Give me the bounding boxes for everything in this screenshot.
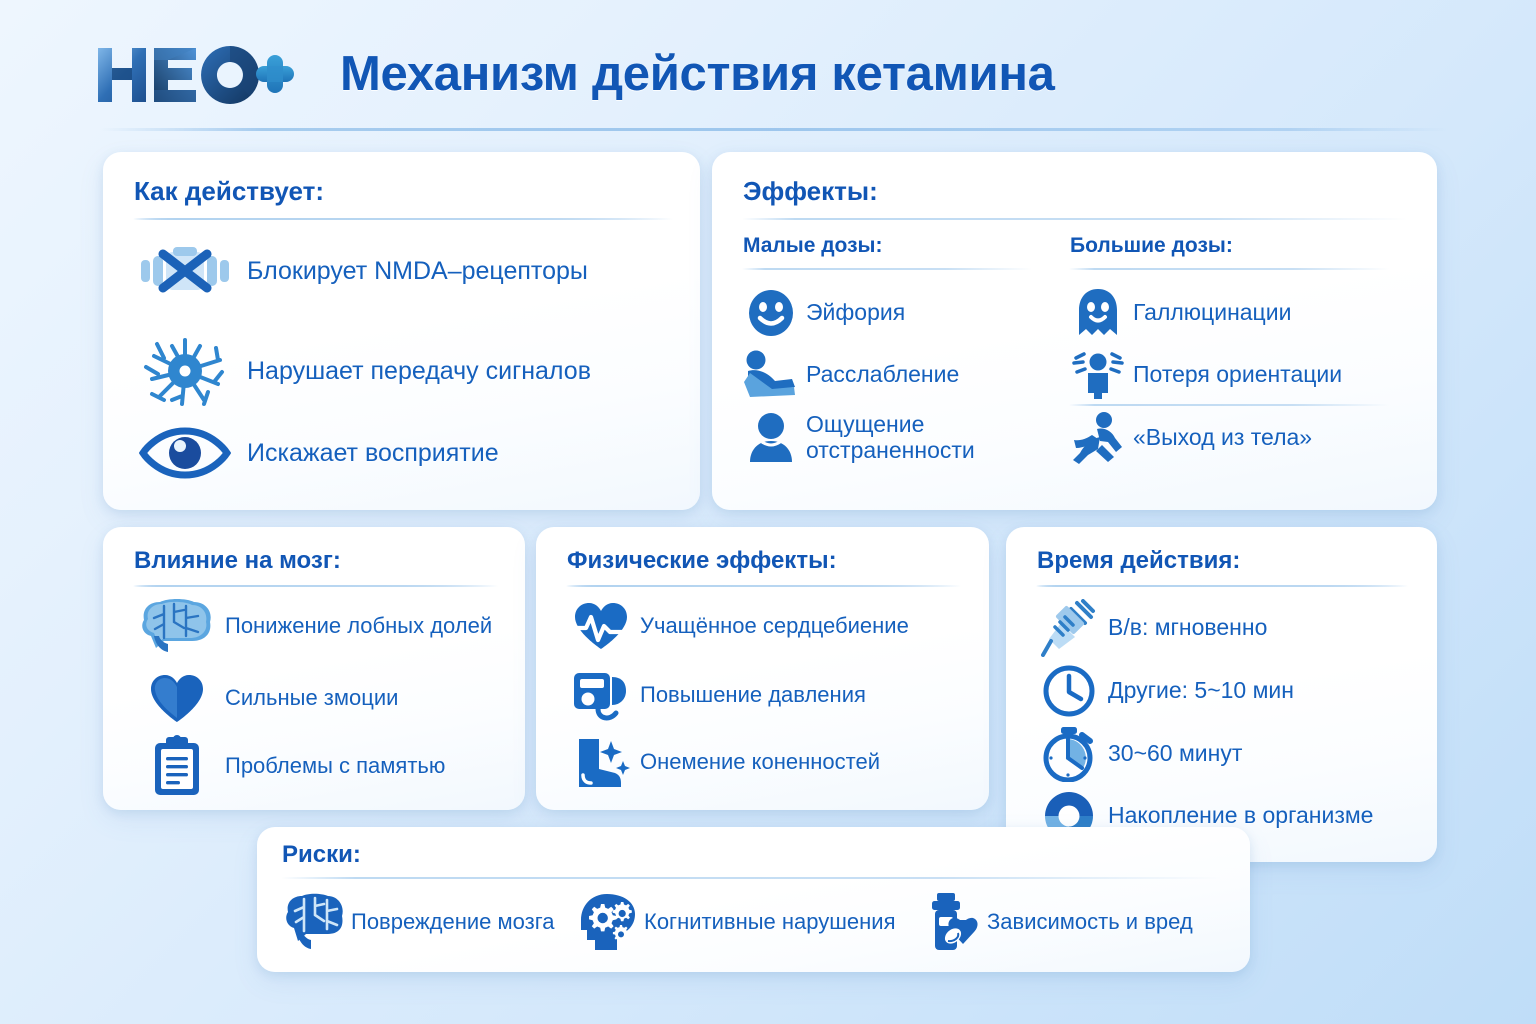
list-item-label: Повреждение мозга: [351, 910, 555, 935]
ghost-icon: [1067, 287, 1129, 339]
list-item: Повышение давления: [564, 664, 969, 726]
page-title: Механизм действия кетамина: [340, 46, 1055, 102]
item-divider: [566, 585, 961, 587]
list-item: Зависимость и вред: [917, 887, 1193, 957]
person-reclining-icon: [740, 349, 802, 401]
list-item-label: Другие: 5~10 мин: [1108, 678, 1294, 704]
list-item: Другие: 5~10 мин: [1032, 660, 1422, 722]
list-item-label: Сильные змоции: [225, 686, 398, 711]
high-dose-divider: [1069, 268, 1389, 270]
list-item-label: В/в: мгновенно: [1108, 615, 1267, 641]
brain-icon: [131, 598, 223, 654]
person-bust-icon: [740, 412, 802, 464]
brain-damage-icon: [281, 893, 347, 951]
subheading-low-dose: Малые дозы:: [743, 234, 882, 258]
list-item-label: Онемение коненностей: [640, 750, 880, 775]
list-item-label: Эйфория: [806, 300, 905, 326]
list-item: Сильные змоции: [131, 667, 503, 729]
list-item: В/в: мгновенно: [1032, 597, 1422, 659]
item-divider: [1069, 404, 1389, 406]
eye-icon: [131, 427, 239, 479]
list-item: Ощущение отстраненности: [740, 407, 1040, 469]
nmda-receptor-blocked-icon: [131, 246, 239, 296]
list-item-label: Нарушает передачу сигналов: [247, 357, 591, 385]
list-item: Повреждение мозга: [281, 887, 555, 957]
card-title-risks: Риски:: [282, 841, 361, 869]
card-title-how-it-works: Как действует:: [134, 176, 324, 207]
list-item: Искажает восприятие: [131, 416, 676, 490]
blood-pressure-monitor-icon: [564, 667, 638, 723]
list-item: Учащённое сердцебиение: [564, 595, 969, 657]
list-item-label: Ощущение отстраненности: [806, 412, 1040, 464]
low-dose-divider: [742, 268, 1032, 270]
clipboard-icon: [131, 735, 223, 797]
card-title-effects: Эффекты:: [743, 176, 878, 207]
list-item-label: Проблемы с памятью: [225, 754, 445, 779]
list-item: Когнитивные нарушения: [574, 887, 896, 957]
list-item: 30~60 минут: [1032, 723, 1422, 785]
list-item-label: Блокирует NMDA–рецепторы: [247, 257, 588, 285]
list-item-label: Когнитивные нарушения: [644, 910, 896, 935]
list-item: Проблемы с памятью: [131, 735, 503, 797]
numb-limb-boot-icon: [564, 735, 638, 789]
list-item: «Выход из тела»: [1067, 407, 1397, 469]
neo-plus-logo-icon: [96, 44, 294, 106]
smiley-face-icon: [740, 288, 802, 338]
title-divider: [742, 218, 1407, 220]
list-item-label: «Выход из тела»: [1133, 425, 1312, 451]
list-item: Нарушает передачу сигналов: [131, 334, 676, 408]
list-item: Блокирует NMDA–рецепторы: [131, 234, 676, 308]
person-dizzy-icon: [1067, 349, 1129, 401]
list-item-label: Зависимость и вред: [987, 910, 1193, 935]
card-brain-impact: Влияние на мозг: Понижение лобных долей …: [103, 527, 525, 810]
page-header: Механизм действия кетамина: [0, 0, 1536, 132]
list-item-label: Накопление в организме: [1108, 803, 1373, 829]
list-item: Галлюцинации: [1067, 282, 1397, 344]
list-item: Онемение коненностей: [564, 731, 969, 793]
card-title-physical-effects: Физические эффекты:: [567, 547, 837, 575]
list-item: Понижение лобных долей: [131, 595, 503, 657]
card-duration: Время действия: В/в: мгновенно: [1006, 527, 1437, 862]
list-item-label: Потеря ориентации: [1133, 362, 1342, 388]
item-divider: [1036, 585, 1408, 587]
pill-bottle-heart-icon: [917, 892, 983, 952]
list-item: Эйфория: [740, 282, 1040, 344]
list-item-label: Искажает восприятие: [247, 439, 499, 467]
item-divider: [133, 585, 498, 587]
card-how-it-works: Как действует: Блокирует NMDA–рецепторы: [103, 152, 700, 510]
heart-pulse-icon: [564, 600, 638, 652]
title-divider: [281, 877, 1221, 879]
list-item-label: 30~60 минут: [1108, 741, 1242, 767]
list-item-label: Повышение давления: [640, 683, 866, 708]
card-physical-effects: Физические эффекты: Учащённое сердцебиен…: [536, 527, 989, 810]
heart-icon: [131, 672, 223, 724]
person-floating-icon: [1067, 411, 1129, 465]
list-item-label: Галлюцинации: [1133, 300, 1291, 326]
subheading-high-dose: Большие дозы:: [1070, 234, 1233, 258]
card-risks: Риски: Повреждение мозга: [257, 827, 1250, 972]
list-item-label: Понижение лобных долей: [225, 614, 492, 639]
head-gears-icon: [574, 892, 640, 952]
list-item-label: Учащённое сердцебиение: [640, 614, 909, 639]
list-item: Расслабление: [740, 344, 1040, 406]
syringe-icon: [1032, 599, 1106, 657]
clock-icon: [1032, 665, 1106, 717]
list-item-label: Расслабление: [806, 362, 959, 388]
card-title-brain-impact: Влияние на мозг:: [134, 547, 341, 575]
neuron-icon: [131, 334, 239, 408]
list-item: Потеря ориентации: [1067, 344, 1397, 406]
card-effects: Эффекты: Малые дозы: Большие дозы: Эйфор…: [712, 152, 1437, 510]
header-divider: [100, 128, 1450, 131]
item-divider: [133, 218, 673, 220]
card-title-duration: Время действия:: [1037, 547, 1240, 575]
stopwatch-icon: [1032, 726, 1106, 782]
